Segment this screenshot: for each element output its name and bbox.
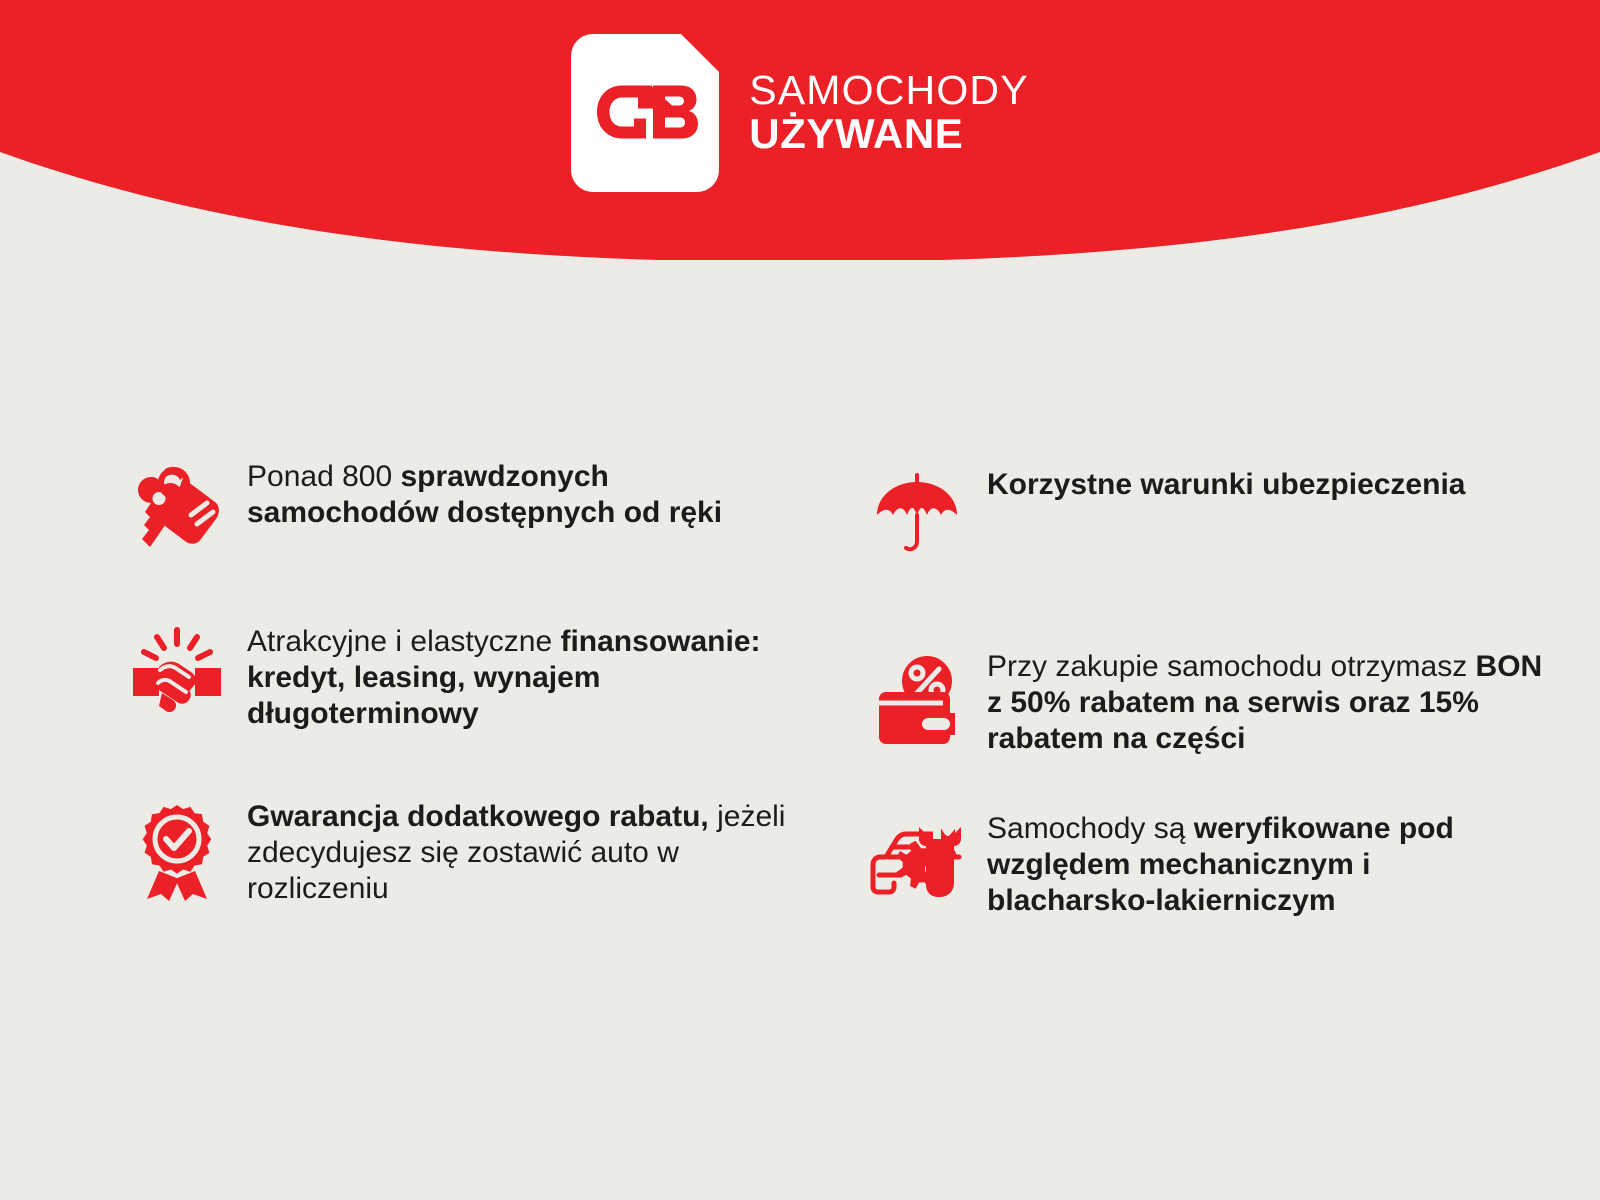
wallet-discount-icon	[865, 647, 969, 747]
promo-page: SAMOCHODY UŻYWANE	[0, 0, 1600, 1200]
header-banner: SAMOCHODY UŻYWANE	[0, 0, 1600, 260]
benefit-text: Samochody są weryfikowane pod względem m…	[987, 809, 1547, 919]
header-logo-group: SAMOCHODY UŻYWANE	[0, 30, 1600, 195]
brand-wordmark: SAMOCHODY UŻYWANE	[749, 69, 1029, 155]
handshake-icon	[125, 622, 229, 722]
car-service-icon	[865, 809, 969, 909]
benefits-column-left: Ponad 800 sprawdzonych samochodów dostęp…	[125, 445, 845, 919]
gb-logo-icon	[571, 34, 719, 192]
benefit-text-lead: Ponad 800	[247, 460, 400, 493]
brand-name-line1: SAMOCHODY	[749, 69, 1029, 112]
benefit-item: Atrakcyjne i elastyczne finansowanie: kr…	[125, 622, 845, 732]
benefit-item: Ponad 800 sprawdzonych samochodów dostęp…	[125, 457, 845, 557]
award-badge-icon	[125, 797, 229, 897]
benefits-column-right: Korzystne warunki ubezpieczenia	[865, 445, 1585, 919]
brand-name-line2: UŻYWANE	[749, 112, 1029, 156]
benefit-text-strong: Korzystne warunki ubezpieczenia	[987, 468, 1465, 501]
benefit-text: Korzystne warunki ubezpieczenia	[987, 465, 1465, 503]
benefits-grid: Ponad 800 sprawdzonych samochodów dostęp…	[0, 445, 1600, 919]
benefit-item: Gwarancja dodatkowego rabatu, jeżeli zde…	[125, 797, 845, 907]
benefit-item: Samochody są weryfikowane pod względem m…	[865, 809, 1585, 919]
benefit-text: Atrakcyjne i elastyczne finansowanie: kr…	[247, 622, 807, 732]
benefit-text: Gwarancja dodatkowego rabatu, jeżeli zde…	[247, 797, 807, 907]
benefit-text-lead: Atrakcyjne i elastyczne	[247, 625, 560, 658]
benefit-text: Przy zakupie samochodu otrzymasz BON z 5…	[987, 647, 1547, 757]
benefit-text: Ponad 800 sprawdzonych samochodów dostęp…	[247, 457, 767, 531]
car-key-icon	[125, 457, 229, 557]
benefit-text-lead: Przy zakupie samochodu otrzymasz	[987, 650, 1476, 683]
umbrella-icon	[865, 465, 969, 565]
benefit-item: Przy zakupie samochodu otrzymasz BON z 5…	[865, 647, 1585, 757]
benefit-text-strong: Gwarancja dodatkowego rabatu,	[247, 800, 709, 833]
benefit-item: Korzystne warunki ubezpieczenia	[865, 465, 1585, 565]
benefit-text-lead: Samochody są	[987, 812, 1194, 845]
gb-logo-mark[interactable]	[571, 34, 719, 192]
